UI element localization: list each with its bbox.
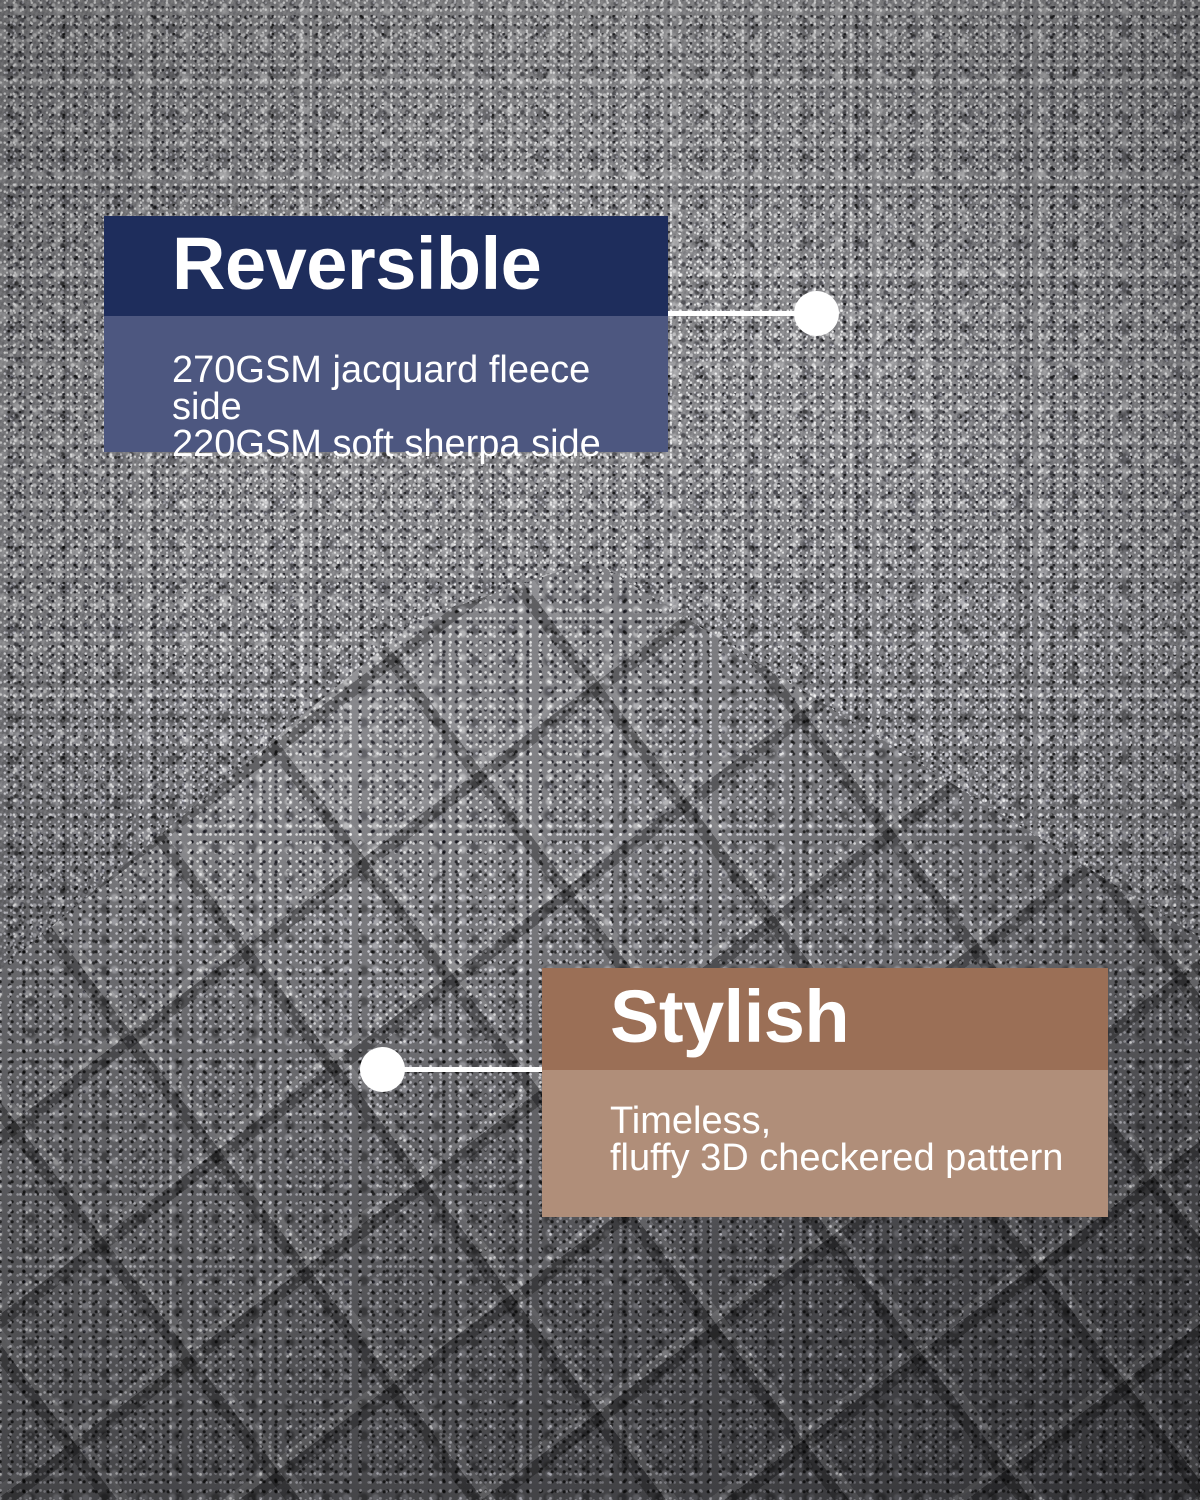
callout-card-reversible: Reversible 270GSM jacquard fleece side 2… [104,216,668,452]
product-feature-image: Reversible 270GSM jacquard fleece side 2… [0,0,1200,1500]
leader-dot-reversible [794,291,839,336]
callout-header-stylish: Stylish [542,968,1108,1070]
callout-card-stylish: Stylish Timeless, fluffy 3D checkered pa… [542,968,1108,1217]
leader-line-stylish [398,1067,544,1072]
callout-body-stylish: Timeless, fluffy 3D checkered pattern [542,1070,1108,1217]
callout-header-reversible: Reversible [104,216,668,316]
callout-title-stylish: Stylish [610,980,849,1054]
callout-body-reversible: 270GSM jacquard fleece side 220GSM soft … [104,316,668,452]
callout-title-reversible: Reversible [172,227,541,301]
leader-dot-stylish [360,1047,405,1092]
callout-body-text-reversible: 270GSM jacquard fleece side 220GSM soft … [172,352,668,463]
callout-body-text-stylish: Timeless, fluffy 3D checkered pattern [610,1103,1108,1177]
leader-line-reversible [668,311,803,316]
